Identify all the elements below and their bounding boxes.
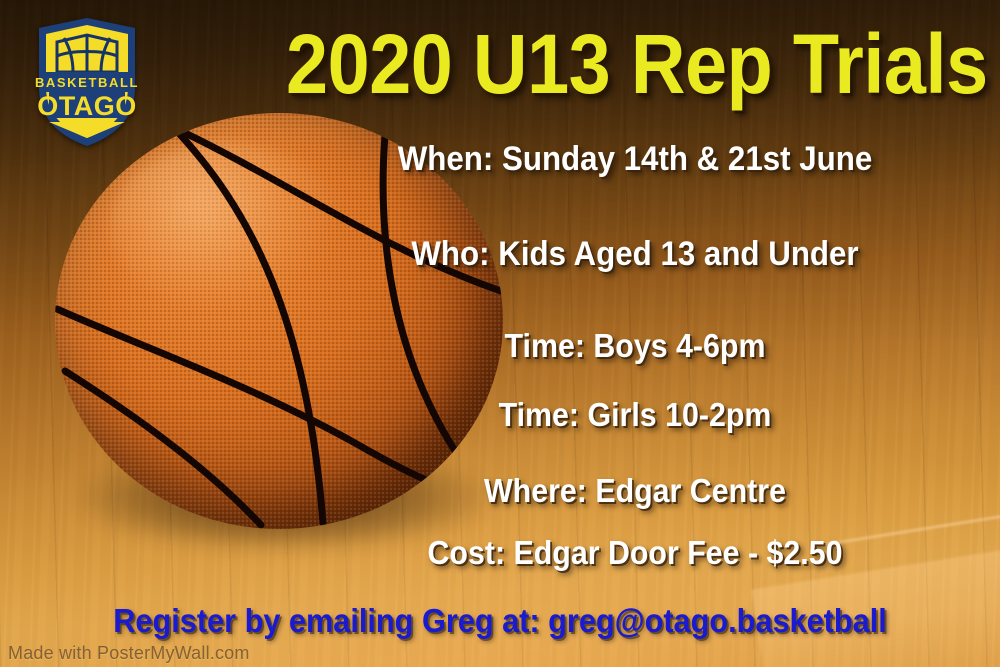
poster-title: 2020 U13 Rep Trials xyxy=(286,22,934,106)
postermywall-watermark: Made with PosterMyWall.com xyxy=(8,643,250,664)
detail-line-time-girls: Time: Girls 10-2pm xyxy=(327,398,943,431)
basketball-otago-logo: BASKETBALL OTAGO xyxy=(19,14,155,150)
logo-name-label: OTAGO xyxy=(37,91,137,121)
detail-line-where: Where: Edgar Centre xyxy=(327,474,943,507)
logo-basketball-icon xyxy=(57,35,117,72)
register-contact-line: Register by emailing Greg at: greg@otago… xyxy=(35,604,965,637)
logo-band-label: BASKETBALL xyxy=(35,75,139,90)
detail-line-who: Who: Kids Aged 13 and Under xyxy=(327,237,943,271)
poster-details-list: When: Sunday 14th & 21st June Who: Kids … xyxy=(300,130,970,569)
detail-line-when: When: Sunday 14th & 21st June xyxy=(327,142,943,176)
poster-canvas: BASKETBALL OTAGO 2020 U13 Rep Trials Whe… xyxy=(0,0,1000,667)
detail-line-time-boys: Time: Boys 4-6pm xyxy=(327,329,943,362)
detail-line-cost: Cost: Edgar Door Fee - $2.50 xyxy=(327,536,943,569)
